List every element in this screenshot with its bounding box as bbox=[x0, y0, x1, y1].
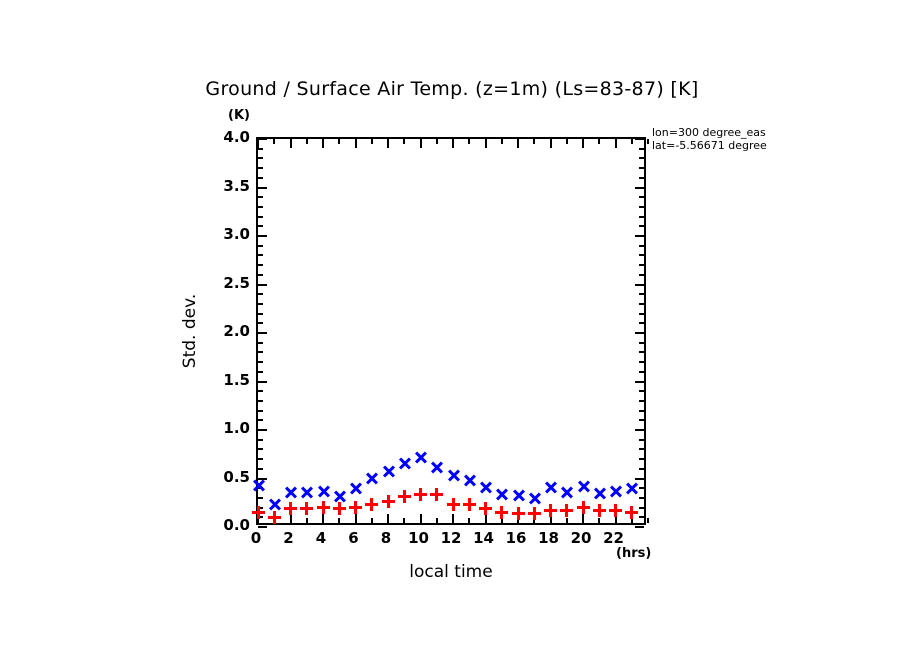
y-axis-tick bbox=[258, 196, 263, 198]
y-axis-tick bbox=[639, 322, 644, 324]
y-axis-tick bbox=[258, 177, 263, 179]
data-point bbox=[349, 482, 362, 495]
x-axis-tick bbox=[647, 139, 649, 144]
y-axis-tick bbox=[639, 293, 644, 295]
y-axis-tick bbox=[639, 157, 644, 159]
data-point bbox=[268, 498, 281, 511]
y-axis-tick bbox=[639, 371, 644, 373]
y-axis-tick bbox=[258, 284, 267, 286]
data-point bbox=[317, 501, 330, 514]
y-axis-tick bbox=[639, 487, 644, 489]
y-axis-unit-label: (K) bbox=[228, 108, 250, 123]
data-point bbox=[463, 498, 476, 511]
y-axis-tick-label: 4.0 bbox=[223, 130, 250, 145]
y-axis-tick-label: 2.5 bbox=[223, 276, 250, 291]
x-axis-tick bbox=[550, 514, 552, 523]
y-axis-tick bbox=[258, 468, 263, 470]
data-point bbox=[398, 490, 411, 503]
y-axis-tick bbox=[639, 507, 644, 509]
x-axis-tick bbox=[387, 139, 389, 148]
y-axis-tick bbox=[639, 254, 644, 256]
chart-title: Ground / Surface Air Temp. (z=1m) (Ls=83… bbox=[0, 78, 904, 100]
y-axis-tick bbox=[258, 187, 267, 189]
x-axis-tick bbox=[598, 139, 600, 144]
data-point bbox=[495, 488, 508, 501]
y-axis-tick bbox=[258, 293, 263, 295]
chart-figure: Ground / Surface Air Temp. (z=1m) (Ls=83… bbox=[0, 0, 904, 654]
data-point bbox=[333, 490, 346, 503]
y-axis-tick bbox=[639, 245, 644, 247]
y-axis-tick bbox=[258, 400, 263, 402]
y-axis-tick bbox=[258, 157, 263, 159]
plot-area bbox=[256, 137, 646, 525]
y-axis-tick bbox=[258, 313, 263, 315]
data-point bbox=[447, 469, 460, 482]
data-point bbox=[252, 479, 265, 492]
x-axis-tick bbox=[371, 139, 373, 144]
data-point bbox=[625, 482, 638, 495]
y-axis-tick bbox=[639, 516, 644, 518]
data-point bbox=[430, 461, 443, 474]
y-axis-tick bbox=[258, 439, 263, 441]
data-point bbox=[365, 498, 378, 511]
y-axis-tick bbox=[258, 361, 263, 363]
x-axis-tick bbox=[501, 518, 503, 523]
y-axis-tick bbox=[639, 342, 644, 344]
y-axis-tick bbox=[258, 245, 263, 247]
data-point bbox=[365, 472, 378, 485]
y-axis-tick bbox=[639, 148, 644, 150]
annotation-line: lon=300 degree_eas bbox=[652, 126, 904, 139]
y-axis-tick bbox=[258, 138, 267, 140]
data-point bbox=[463, 474, 476, 487]
data-point bbox=[528, 492, 541, 505]
x-axis-tick bbox=[452, 514, 454, 523]
x-axis-tick bbox=[501, 139, 503, 144]
y-axis-tick bbox=[258, 419, 263, 421]
x-axis-tick bbox=[306, 518, 308, 523]
y-axis-tick bbox=[635, 187, 644, 189]
data-point bbox=[577, 501, 590, 514]
x-axis-tick bbox=[533, 139, 535, 144]
x-axis-tick bbox=[647, 518, 649, 523]
data-point bbox=[609, 485, 622, 498]
x-axis-tick bbox=[273, 139, 275, 144]
data-point bbox=[544, 481, 557, 494]
x-axis-tick bbox=[631, 518, 633, 523]
data-point bbox=[430, 488, 443, 501]
data-point bbox=[349, 501, 362, 514]
y-axis-tick bbox=[639, 274, 644, 276]
y-axis-tick bbox=[258, 526, 267, 528]
y-axis-tick bbox=[635, 381, 644, 383]
x-axis-tick bbox=[468, 518, 470, 523]
y-axis-tick bbox=[639, 225, 644, 227]
y-axis-tick bbox=[639, 458, 644, 460]
x-axis-tick bbox=[566, 518, 568, 523]
x-axis-tick bbox=[598, 518, 600, 523]
y-axis-tick bbox=[258, 216, 263, 218]
x-axis-tick bbox=[338, 518, 340, 523]
y-axis-tick bbox=[258, 303, 263, 305]
y-axis-tick bbox=[639, 400, 644, 402]
x-axis-tick bbox=[615, 139, 617, 148]
x-axis-tick bbox=[257, 139, 259, 148]
y-axis-tick bbox=[635, 235, 644, 237]
y-axis-tick bbox=[639, 361, 644, 363]
y-axis-tick bbox=[639, 410, 644, 412]
x-axis-tick bbox=[631, 139, 633, 144]
y-axis-tick bbox=[639, 303, 644, 305]
x-axis-tick bbox=[290, 514, 292, 523]
data-point bbox=[495, 506, 508, 519]
data-point bbox=[560, 486, 573, 499]
x-axis-tick-label: 22 bbox=[594, 531, 634, 546]
y-axis-title: Std. dev. bbox=[180, 294, 200, 368]
data-point bbox=[382, 495, 395, 508]
data-point bbox=[512, 489, 525, 502]
y-axis-tick bbox=[635, 138, 644, 140]
data-point bbox=[593, 504, 606, 517]
y-axis-tick bbox=[258, 478, 267, 480]
y-axis-tick bbox=[639, 216, 644, 218]
x-axis-tick bbox=[371, 518, 373, 523]
data-point bbox=[317, 485, 330, 498]
y-axis-tick bbox=[258, 487, 263, 489]
y-axis-tick-label: 0.5 bbox=[223, 470, 250, 485]
y-axis-tick bbox=[635, 526, 644, 528]
y-axis-tick bbox=[258, 206, 263, 208]
y-axis-tick bbox=[639, 351, 644, 353]
y-axis-tick bbox=[258, 225, 263, 227]
y-axis-tick-label: 1.0 bbox=[223, 421, 250, 436]
x-axis-tick bbox=[290, 139, 292, 148]
x-axis-unit-label: (hrs) bbox=[616, 546, 651, 561]
y-axis-tick bbox=[635, 478, 644, 480]
data-point bbox=[414, 451, 427, 464]
data-point bbox=[382, 465, 395, 478]
y-axis-tick bbox=[639, 439, 644, 441]
x-axis-tick bbox=[582, 139, 584, 148]
data-point bbox=[414, 488, 427, 501]
y-axis-tick bbox=[639, 167, 644, 169]
y-axis-tick bbox=[258, 342, 263, 344]
y-axis-tick bbox=[258, 458, 263, 460]
data-point bbox=[284, 486, 297, 499]
x-axis-tick bbox=[338, 139, 340, 144]
y-axis-tick bbox=[258, 274, 263, 276]
y-axis-tick-label: 3.5 bbox=[223, 179, 250, 194]
data-point bbox=[333, 502, 346, 515]
y-axis-tick-label: 3.0 bbox=[223, 227, 250, 242]
x-axis-tick bbox=[485, 139, 487, 148]
annotation-line: lat=-5.56671 degree bbox=[652, 139, 904, 152]
y-axis-tick bbox=[258, 235, 267, 237]
y-axis-tick bbox=[635, 284, 644, 286]
x-axis-tick bbox=[387, 514, 389, 523]
data-point bbox=[300, 486, 313, 499]
x-axis-tick bbox=[420, 139, 422, 148]
data-point bbox=[300, 502, 313, 515]
y-axis-tick bbox=[639, 264, 644, 266]
x-axis-tick bbox=[452, 139, 454, 148]
x-axis-tick bbox=[468, 139, 470, 144]
y-axis-tick bbox=[258, 351, 263, 353]
y-axis-tick bbox=[639, 177, 644, 179]
y-axis-tick-label: 1.5 bbox=[223, 373, 250, 388]
x-axis-tick bbox=[533, 518, 535, 523]
y-axis-tick bbox=[258, 371, 263, 373]
y-axis-tick bbox=[258, 497, 263, 499]
x-axis-tick bbox=[436, 518, 438, 523]
x-axis-tick bbox=[436, 139, 438, 144]
y-axis-tick bbox=[639, 419, 644, 421]
y-axis-tick bbox=[635, 332, 644, 334]
data-point bbox=[577, 480, 590, 493]
y-axis-tick bbox=[639, 468, 644, 470]
x-axis-tick bbox=[322, 139, 324, 148]
coordinate-annotation: lon=300 degree_easlat=-5.56671 degree bbox=[652, 126, 904, 152]
y-axis-tick bbox=[258, 448, 263, 450]
x-axis-tick bbox=[582, 514, 584, 523]
data-point bbox=[447, 498, 460, 511]
y-axis-tick bbox=[258, 322, 263, 324]
y-axis-tick bbox=[258, 264, 263, 266]
y-axis-tick bbox=[258, 507, 263, 509]
data-point bbox=[479, 481, 492, 494]
y-axis-tick bbox=[639, 448, 644, 450]
x-axis-tick bbox=[550, 139, 552, 148]
y-axis-tick bbox=[258, 254, 263, 256]
data-point bbox=[625, 506, 638, 519]
x-axis-tick bbox=[257, 514, 259, 523]
y-axis-tick bbox=[258, 429, 267, 431]
y-axis-tick bbox=[639, 497, 644, 499]
x-axis-tick bbox=[273, 518, 275, 523]
data-point bbox=[398, 457, 411, 470]
y-axis-tick bbox=[258, 390, 263, 392]
y-axis-tick bbox=[639, 313, 644, 315]
x-axis-tick bbox=[615, 514, 617, 523]
x-axis-tick bbox=[566, 139, 568, 144]
y-axis-tick bbox=[258, 410, 263, 412]
y-axis-tick bbox=[635, 429, 644, 431]
x-axis-tick bbox=[322, 514, 324, 523]
x-axis-tick bbox=[403, 139, 405, 144]
x-axis-tick bbox=[420, 514, 422, 523]
x-axis-tick bbox=[306, 139, 308, 144]
x-axis-tick bbox=[355, 514, 357, 523]
y-axis-tick-label: 2.0 bbox=[223, 324, 250, 339]
y-axis-tick bbox=[258, 167, 263, 169]
y-axis-tick bbox=[639, 196, 644, 198]
data-point bbox=[560, 504, 573, 517]
x-axis-tick bbox=[517, 514, 519, 523]
x-axis-tick bbox=[355, 139, 357, 148]
x-axis-tick bbox=[403, 518, 405, 523]
y-axis-tick bbox=[258, 381, 267, 383]
x-axis-tick bbox=[517, 139, 519, 148]
data-point bbox=[593, 487, 606, 500]
y-axis-tick bbox=[639, 390, 644, 392]
x-axis-title: local time bbox=[256, 562, 646, 582]
x-axis-tick bbox=[485, 514, 487, 523]
y-axis-tick bbox=[639, 206, 644, 208]
y-axis-tick bbox=[258, 332, 267, 334]
